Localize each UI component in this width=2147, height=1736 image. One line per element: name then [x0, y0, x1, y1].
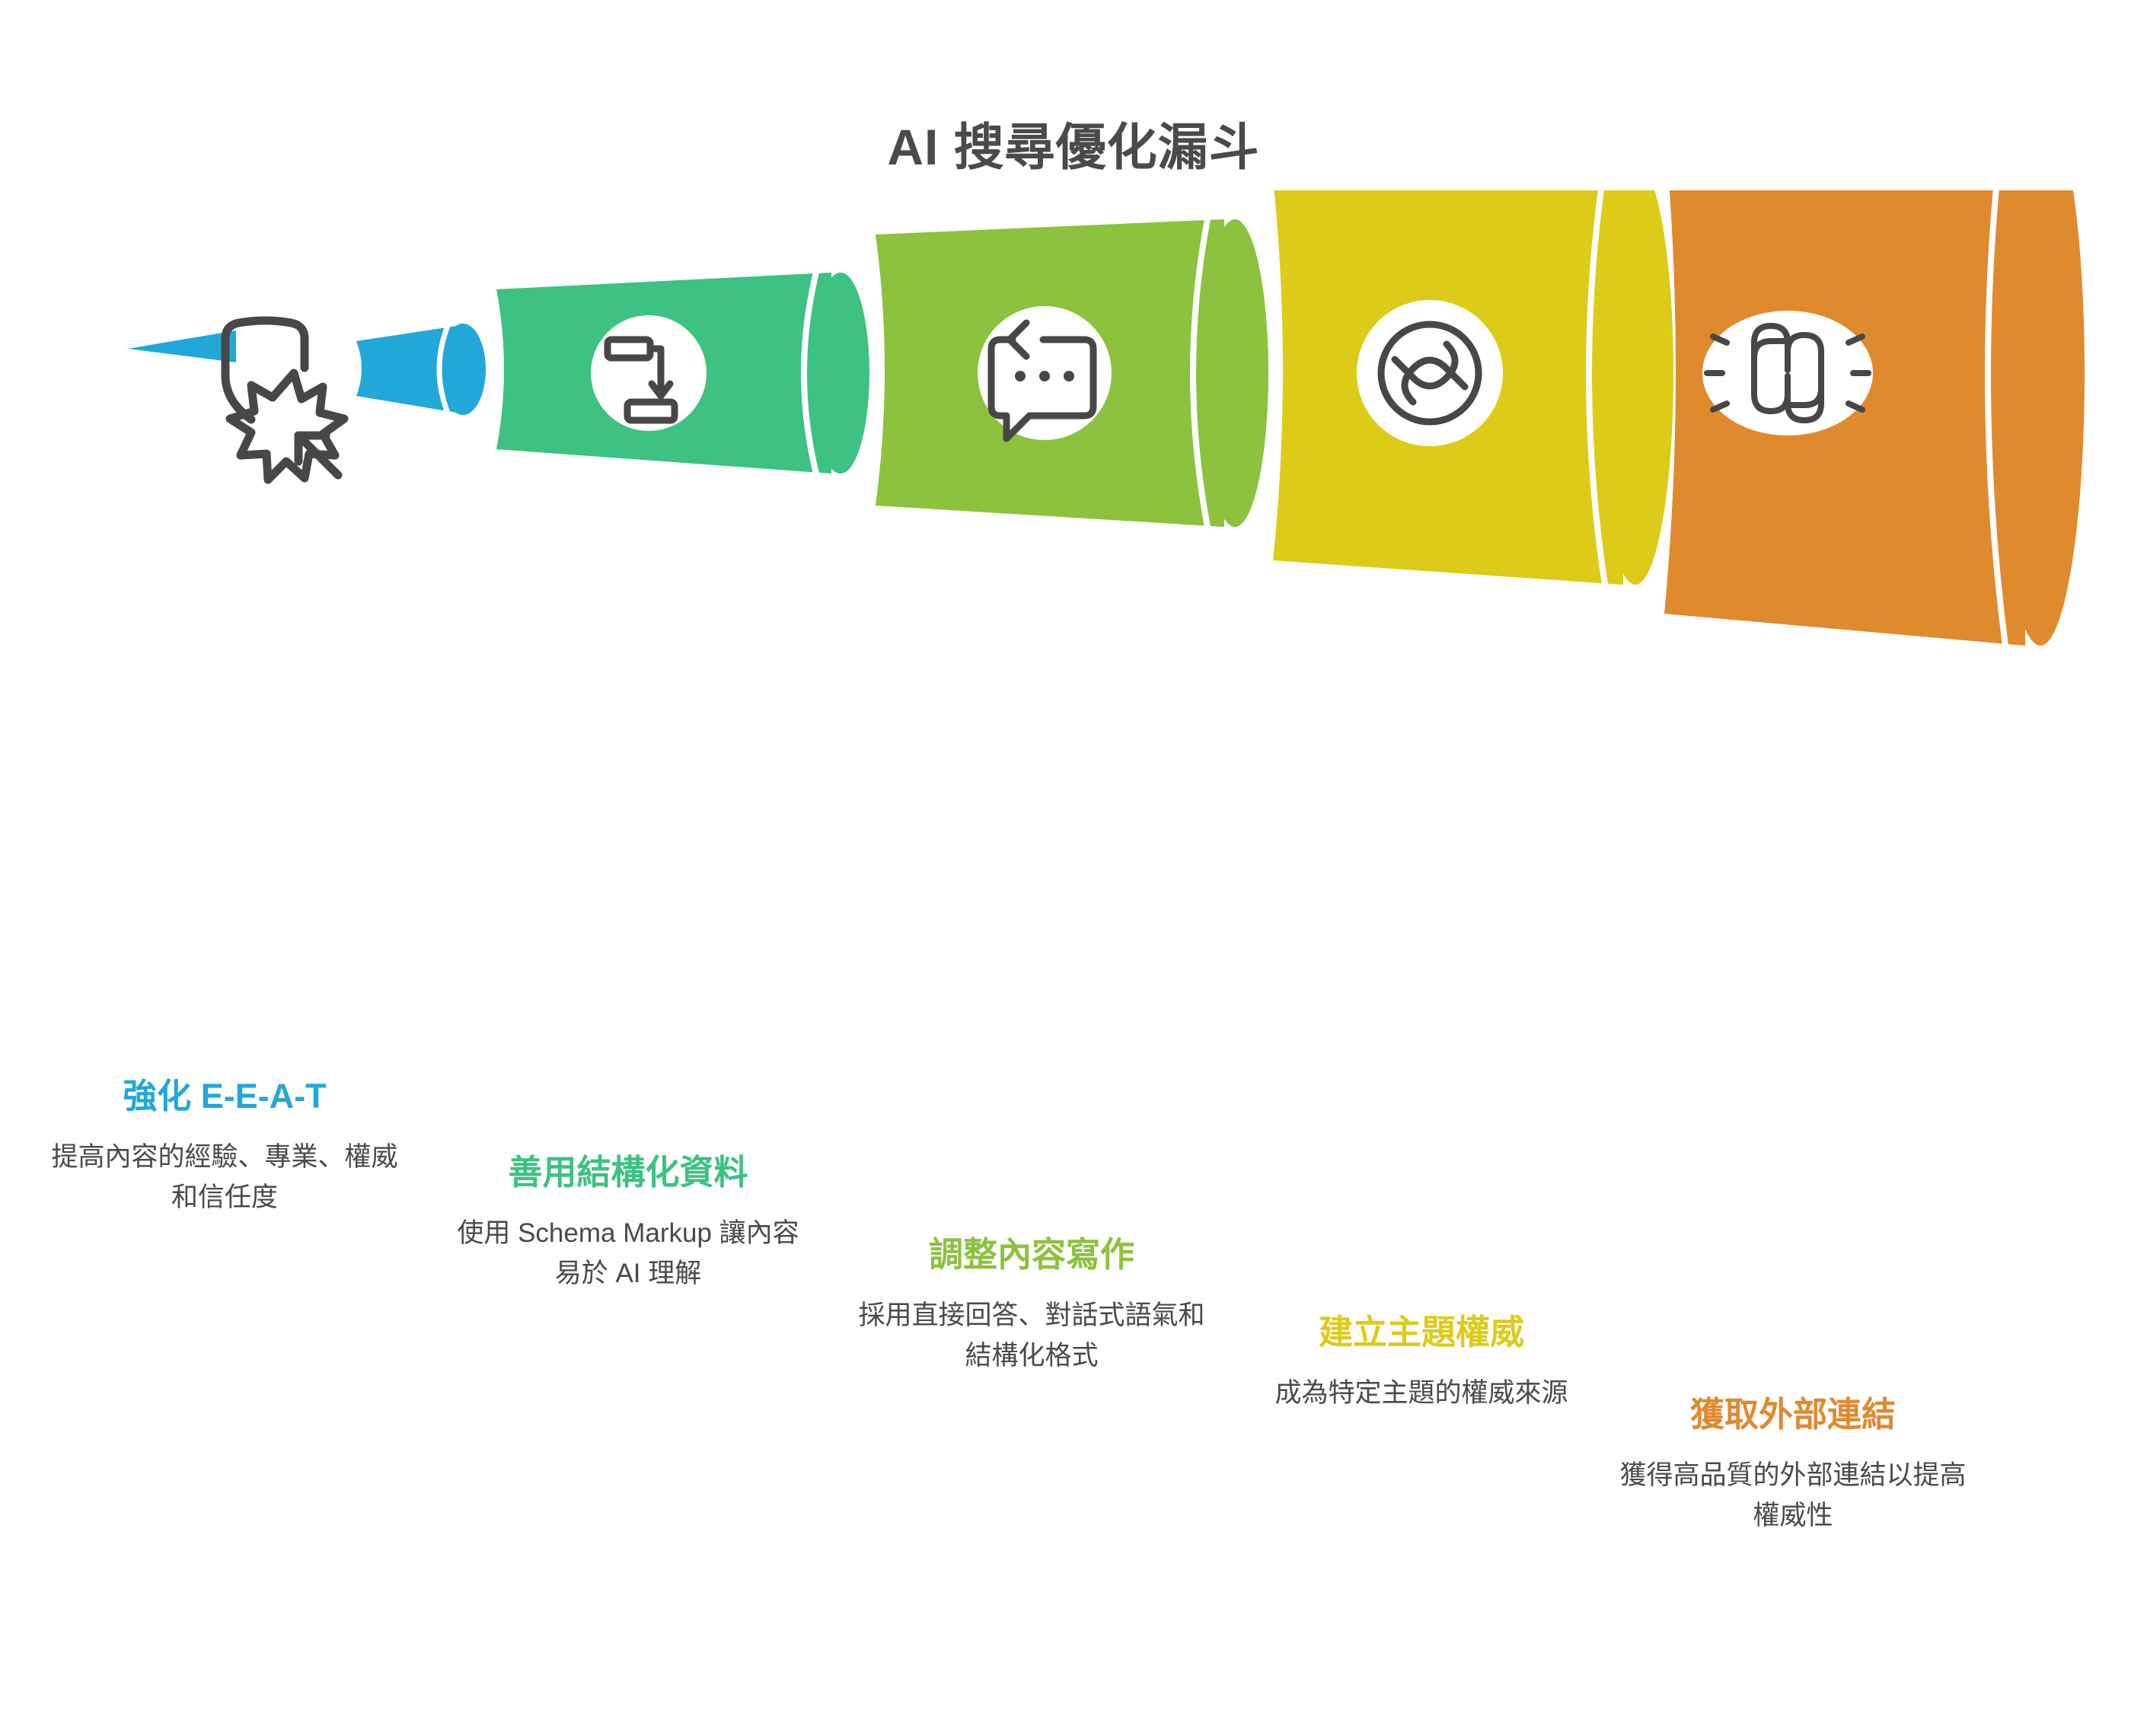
funnel-stage-1[interactable] — [128, 321, 486, 480]
funnel-diagram — [0, 190, 2147, 1089]
funnel-stage-5[interactable] — [1664, 190, 2085, 646]
funnel-stage-3-cap — [1201, 219, 1268, 527]
funnel-stage-4[interactable] — [1273, 190, 1673, 585]
funnel-stage-3[interactable] — [876, 219, 1268, 527]
funnel-label-2-heading: 善用結構化資料 — [449, 1151, 807, 1194]
funnel-stage-2[interactable] — [496, 273, 869, 474]
funnel-label-1-heading: 強化 E-E-A-T — [46, 1075, 404, 1118]
funnel-entry-arrow-icon — [128, 330, 236, 362]
funnel-label-2[interactable]: 善用結構化資料 使用 Schema Markup 讓內容易於 AI 理解 — [449, 1151, 807, 1294]
funnel-label-4[interactable]: 建立主題權威 成為特定主題的權威來源 — [1243, 1311, 1600, 1414]
funnel-label-3-description: 採用直接回答、對話式語氣和結構化格式 — [853, 1296, 1211, 1376]
funnel-label-4-description: 成為特定主題的權威來源 — [1243, 1374, 1600, 1414]
funnel-label-5-description: 獲得高品質的外部連結以提高權威性 — [1614, 1456, 1972, 1536]
funnel-stage-2-cap — [812, 273, 869, 474]
funnel-label-2-description: 使用 Schema Markup 讓內容易於 AI 理解 — [449, 1214, 807, 1294]
funnel-label-5-heading: 獲取外部連結 — [1614, 1393, 1972, 1436]
funnel-stage-1-cap — [440, 324, 486, 415]
funnel-stage-2-icon-badge — [591, 315, 707, 431]
funnel-label-1[interactable]: 強化 E-E-A-T 提高內容的經驗、專業、權威和信任度 — [46, 1075, 404, 1217]
funnel-label-5[interactable]: 獲取外部連結 獲得高品質的外部連結以提高權威性 — [1614, 1393, 1972, 1536]
funnel-label-3-heading: 調整內容寫作 — [853, 1233, 1211, 1276]
funnel-label-3[interactable]: 調整內容寫作 採用直接回答、對話式語氣和結構化格式 — [853, 1233, 1211, 1376]
funnel-label-4-heading: 建立主題權威 — [1243, 1311, 1600, 1354]
shield-burst-cursor-icon — [225, 321, 344, 480]
page-title: AI 搜尋優化漏斗 — [0, 107, 2147, 180]
funnel-label-1-description: 提高內容的經驗、專業、權威和信任度 — [46, 1138, 404, 1217]
